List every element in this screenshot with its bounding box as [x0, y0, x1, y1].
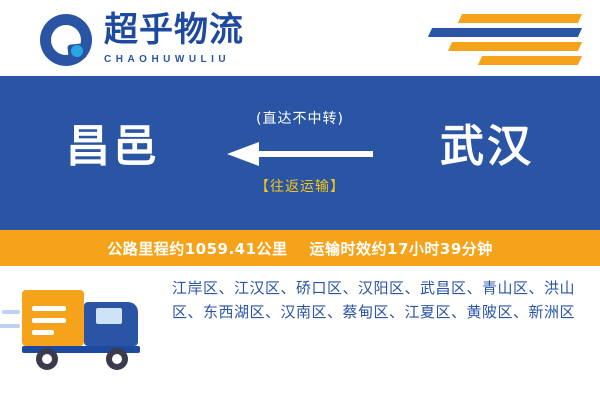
double-arrow-icon: [225, 134, 375, 174]
company-name-en: CHAOHUWULIU: [104, 54, 244, 65]
coverage-areas-text: 江岸区、江汉区、硚口区、汉阳区、武昌区、青山区、洪山区、东西湖区、汉南区、蔡甸区…: [172, 276, 582, 324]
stripe-2: [428, 28, 582, 37]
coverage-section: 江岸区、江汉区、硚口区、汉阳区、武昌区、青山区、洪山区、东西湖区、汉南区、蔡甸区…: [0, 266, 600, 400]
cargo-line-1: [32, 306, 66, 311]
stripe-3: [448, 42, 582, 51]
truck-window: [96, 308, 122, 324]
distance-label: 公路里程约1059.41公里: [107, 238, 287, 259]
speed-line-1: [2, 310, 20, 314]
info-bar: 公路里程约1059.41公里 运输时效约17小时39分钟: [0, 230, 600, 266]
route-display: 昌邑 武汉 (直达不中转) 【往返运输】: [0, 76, 600, 230]
logistics-route-poster: 超乎物流 CHAOHUWULIU 昌邑 武汉 (直达不中转): [0, 0, 600, 400]
logo-dot: [71, 45, 83, 57]
logo-text-block: 超乎物流 CHAOHUWULIU: [104, 10, 244, 65]
duration-label: 运输时效约17小时39分钟: [310, 238, 493, 259]
stripe-4: [478, 56, 582, 65]
route-middle-block: (直达不中转) 【往返运输】: [225, 108, 375, 196]
cargo-line-2: [32, 318, 66, 323]
route-band: 昌邑 武汉 (直达不中转) 【往返运输】: [0, 76, 600, 230]
wheel-hub-front: [112, 354, 122, 364]
cargo-line-3: [32, 330, 54, 335]
company-name-cn: 超乎物流: [104, 10, 244, 50]
stripe-1: [458, 14, 582, 23]
wheel-hub-rear: [42, 354, 52, 364]
circle-q-logo-icon: [40, 14, 92, 66]
poster-header: 超乎物流 CHAOHUWULIU: [0, 0, 600, 76]
truck-wheel-rear: [36, 348, 58, 370]
header-stripes-decoration: [390, 14, 580, 64]
speed-line-2: [0, 324, 20, 328]
route-note-roundtrip: 【往返运输】: [225, 176, 375, 196]
destination-city: 武汉: [440, 120, 534, 174]
truck-wheel-front: [106, 348, 128, 370]
origin-city: 昌邑: [66, 120, 160, 174]
delivery-truck-icon: [22, 286, 162, 376]
route-note-direct: (直达不中转): [225, 108, 375, 128]
